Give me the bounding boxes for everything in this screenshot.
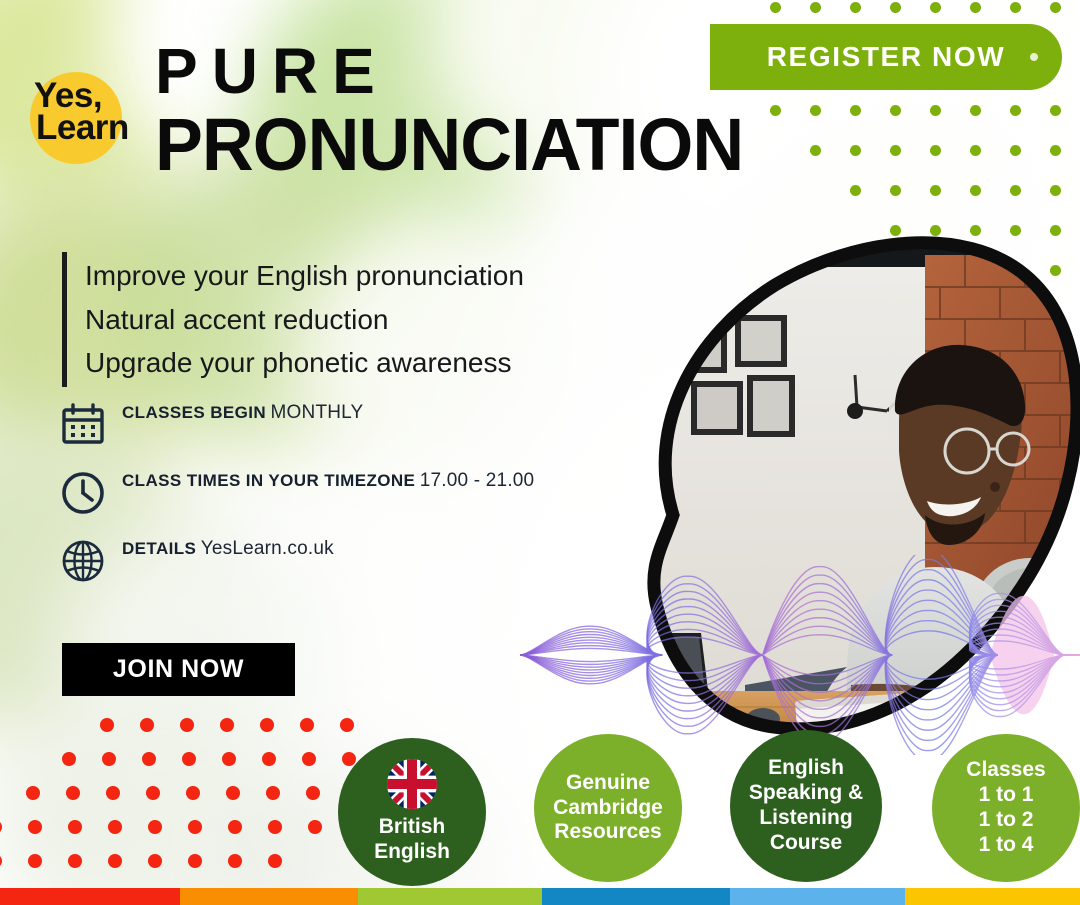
badge-line: Resources [554, 820, 661, 845]
decorative-dot [810, 145, 821, 156]
badge-line: 1 to 4 [979, 833, 1034, 858]
decorative-dot [770, 105, 781, 116]
page-title: PURE PRONUNCIATION [155, 38, 761, 183]
decorative-dot [26, 786, 40, 800]
color-bar-segment [905, 888, 1080, 905]
info-value: 17.00 - 21.00 [420, 470, 535, 491]
decorative-dot [930, 105, 941, 116]
decorative-dot [226, 786, 240, 800]
decorative-dot [300, 718, 314, 732]
decorative-dot [142, 752, 156, 766]
decorative-dot [102, 752, 116, 766]
decorative-dot [0, 820, 2, 834]
color-bar-segment [0, 888, 180, 905]
decorative-dot [1010, 185, 1021, 196]
decorative-dot [100, 718, 114, 732]
benefits-list: Improve your English pronunciation Natur… [62, 252, 524, 387]
decorative-dot [220, 718, 234, 732]
decorative-dot [850, 145, 861, 156]
decorative-dot [890, 185, 901, 196]
feature-badge[interactable]: GenuineCambridgeResources [534, 734, 682, 882]
decorative-dot [228, 820, 242, 834]
clock-icon [60, 470, 106, 516]
decorative-dot [308, 820, 322, 834]
decorative-dot [1050, 2, 1061, 13]
decorative-dot [1010, 2, 1021, 13]
calendar-icon [60, 402, 106, 448]
decorative-dot [260, 718, 274, 732]
feature-badge[interactable]: Classes1 to 11 to 21 to 4 [932, 734, 1080, 882]
decorative-dot [302, 752, 316, 766]
register-now-button[interactable]: REGISTER NOW [710, 24, 1062, 90]
decorative-dot [930, 145, 941, 156]
decorative-dot [1050, 145, 1061, 156]
info-row-classes-begin: CLASSES BEGIN MONTHLY [60, 402, 534, 448]
color-bar-segment [542, 888, 730, 905]
feature-badges: BritishEnglishGenuineCambridgeResourcesE… [338, 730, 1080, 880]
info-heading: CLASSES BEGIN [122, 403, 266, 422]
decorative-dot [28, 820, 42, 834]
list-item: Natural accent reduction [85, 298, 524, 342]
decorative-dot [108, 820, 122, 834]
decorative-dot [970, 145, 981, 156]
decorative-dot [890, 105, 901, 116]
decorative-dot [1050, 105, 1061, 116]
decorative-dot [306, 786, 320, 800]
decorative-dot [108, 854, 122, 868]
info-block: CLASSES BEGIN MONTHLY CLASS TIMES IN YOU… [60, 402, 534, 606]
decorative-dot [850, 105, 861, 116]
decorative-dot [930, 2, 941, 13]
badge-line: English [768, 756, 844, 781]
decorative-dot [890, 145, 901, 156]
decorative-dot [148, 820, 162, 834]
logo-text: Yes, Learn [34, 80, 154, 144]
title-line-2: PRONUNCIATION [155, 107, 743, 182]
badge-line: British [379, 815, 446, 840]
info-value: YesLearn.co.uk [201, 538, 334, 559]
decorative-dot [140, 718, 154, 732]
info-heading: DETAILS [122, 539, 196, 558]
feature-badge[interactable]: BritishEnglish [338, 738, 486, 886]
info-value: MONTHLY [271, 402, 364, 423]
badge-line: Cambridge [553, 796, 663, 821]
decorative-dot [970, 105, 981, 116]
list-item: Upgrade your phonetic awareness [85, 341, 524, 385]
union-jack-icon [387, 759, 437, 809]
decorative-dot [930, 185, 941, 196]
info-row-class-times: CLASS TIMES IN YOUR TIMEZONE 17.00 - 21.… [60, 470, 534, 516]
decorative-dot [1010, 145, 1021, 156]
register-dot-icon [1030, 53, 1038, 61]
register-now-label: REGISTER NOW [767, 41, 1006, 73]
decorative-dot [62, 752, 76, 766]
decorative-dot [850, 2, 861, 13]
feature-badge[interactable]: EnglishSpeaking &ListeningCourse [730, 730, 882, 882]
decorative-dot [770, 2, 781, 13]
decorative-dot [222, 752, 236, 766]
globe-icon [60, 538, 106, 584]
decorative-dot [28, 854, 42, 868]
list-item: Improve your English pronunciation [85, 254, 524, 298]
decorative-dot [1050, 185, 1061, 196]
decorative-dot [268, 854, 282, 868]
decorative-dot [66, 786, 80, 800]
badge-line: Speaking & [749, 781, 863, 806]
badge-line: Classes [966, 758, 1045, 783]
badge-line: 1 to 2 [979, 808, 1034, 833]
decorative-dot [890, 2, 901, 13]
decorative-dot [970, 2, 981, 13]
badge-line: Listening [759, 806, 852, 831]
decorative-dot [148, 854, 162, 868]
badge-line: Course [770, 831, 842, 856]
red-dot-field [0, 718, 360, 878]
color-bar-segment [180, 888, 358, 905]
join-now-label: JOIN NOW [113, 655, 244, 684]
decorative-dot [182, 752, 196, 766]
decorative-dot [810, 105, 821, 116]
color-bar-segment [730, 888, 905, 905]
join-now-button[interactable]: JOIN NOW [62, 643, 295, 696]
poster-root: Yes, Learn PURE PRONUNCIATION REGISTER N… [0, 0, 1080, 905]
decorative-dot [970, 185, 981, 196]
decorative-dot [186, 786, 200, 800]
badge-line: English [374, 840, 450, 865]
decorative-dot [1010, 105, 1021, 116]
info-row-details: DETAILS YesLearn.co.uk [60, 538, 534, 584]
decorative-dot [180, 718, 194, 732]
decorative-dot [266, 786, 280, 800]
decorative-dot [262, 752, 276, 766]
decorative-dot [268, 820, 282, 834]
decorative-dot [106, 786, 120, 800]
student-photo [495, 215, 1080, 760]
badge-line: 1 to 1 [979, 783, 1034, 808]
decorative-dot [810, 2, 821, 13]
info-heading: CLASS TIMES IN YOUR TIMEZONE [122, 471, 415, 490]
logo-line-2: Learn [36, 112, 154, 144]
decorative-dot [188, 854, 202, 868]
decorative-dot [228, 854, 242, 868]
decorative-dot [850, 185, 861, 196]
bottom-color-bar [0, 888, 1080, 905]
badge-line: Genuine [566, 771, 650, 796]
color-bar-segment [358, 888, 542, 905]
decorative-dot [0, 854, 2, 868]
decorative-dot [188, 820, 202, 834]
decorative-dot [146, 786, 160, 800]
decorative-dot [68, 854, 82, 868]
title-line-1: PURE [155, 38, 761, 105]
decorative-dot [68, 820, 82, 834]
